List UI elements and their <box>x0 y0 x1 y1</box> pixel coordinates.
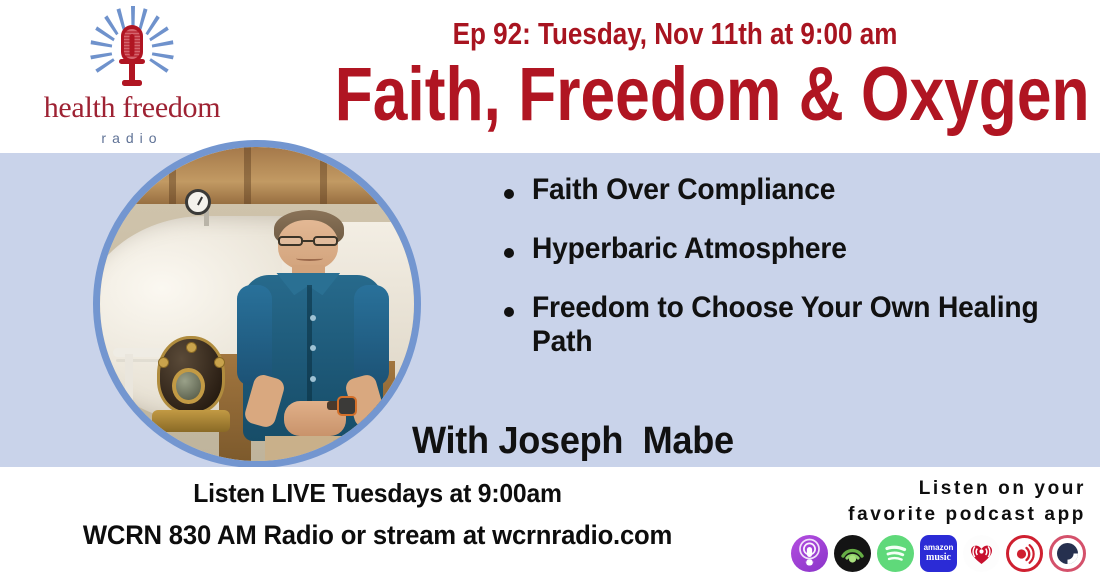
sleeve <box>237 285 272 385</box>
glasses-icon <box>278 236 338 246</box>
apple-podcasts-icon[interactable] <box>791 535 828 572</box>
episode-line: Ep 92: Tuesday, Nov 11th at 9:00 am <box>335 16 1015 52</box>
helmet-knob <box>186 342 197 353</box>
pocket-casts-icon[interactable] <box>1049 535 1086 572</box>
podcast-episode-poster: health freedom radio Ep 92: Tuesday, Nov… <box>0 0 1100 576</box>
bullet-icon <box>504 248 514 258</box>
podcast-apps: Listen on your favorite podcast app <box>786 476 1086 572</box>
podcast-addict-icon[interactable] <box>1006 535 1043 572</box>
host-credit: With Joseph Mabe <box>412 420 734 463</box>
pressure-gauge-icon <box>185 189 211 215</box>
list-item-label: Hyperbaric Atmosphere <box>532 232 847 267</box>
broadcast-station: WCRN 830 AM Radio or stream at wcrnradio… <box>19 520 736 551</box>
brand-sub-wordmark: radio <box>18 130 246 146</box>
broadcast-info: Listen LIVE Tuesdays at 9:00am WCRN 830 … <box>0 478 755 551</box>
list-item: Hyperbaric Atmosphere <box>490 232 1090 267</box>
diving-helmet-icon <box>150 329 232 436</box>
pants <box>265 436 358 461</box>
amazon-label-top: amazon <box>924 544 954 552</box>
button <box>310 315 316 321</box>
brand-wordmark: health freedom <box>18 93 246 123</box>
list-item: Freedom to Choose Your Own Healing Path <box>490 291 1090 361</box>
amazon-music-icon[interactable]: amazon music <box>920 535 957 572</box>
topic-list: Faith Over Compliance Hyperbaric Atmosph… <box>490 173 1090 384</box>
sleeve <box>354 285 389 385</box>
podcast-heading-line1: Listen on your <box>786 476 1086 502</box>
helmet-knob <box>214 357 225 368</box>
microphone-rays-icon <box>86 6 178 90</box>
iheartradio-icon[interactable] <box>963 535 1000 572</box>
bullet-icon <box>504 307 514 317</box>
beam <box>244 147 251 210</box>
helmet-porthole <box>172 368 205 404</box>
host-portrait <box>93 140 421 468</box>
podcast-heading-line2: favorite podcast app <box>786 502 1086 528</box>
list-item: Faith Over Compliance <box>490 173 1090 208</box>
spotify-icon[interactable] <box>877 535 914 572</box>
bullet-icon <box>504 189 514 199</box>
button <box>310 376 316 382</box>
page-title: Faith, Freedom & Oxygen <box>335 57 1016 133</box>
ceiling-beams <box>100 147 414 210</box>
podcast-app-icon-row: amazon music <box>786 535 1086 572</box>
lens <box>313 236 338 246</box>
helmet-base <box>152 410 230 431</box>
list-item-label: Freedom to Choose Your Own Healing Path <box>532 291 1057 361</box>
brand-logo[interactable]: health freedom radio <box>18 4 246 148</box>
castbox-icon[interactable] <box>834 535 871 572</box>
bridge <box>303 240 313 242</box>
beam <box>169 147 176 210</box>
portrait-image <box>100 147 414 461</box>
beam <box>320 147 327 210</box>
wristwatch-icon <box>337 396 357 416</box>
list-item-label: Faith Over Compliance <box>532 173 835 208</box>
host-figure <box>226 210 414 461</box>
lens <box>278 236 303 246</box>
broadcast-schedule: Listen LIVE Tuesdays at 9:00am <box>19 478 736 509</box>
pipe <box>125 354 133 423</box>
amazon-label-bottom: music <box>926 552 951 563</box>
